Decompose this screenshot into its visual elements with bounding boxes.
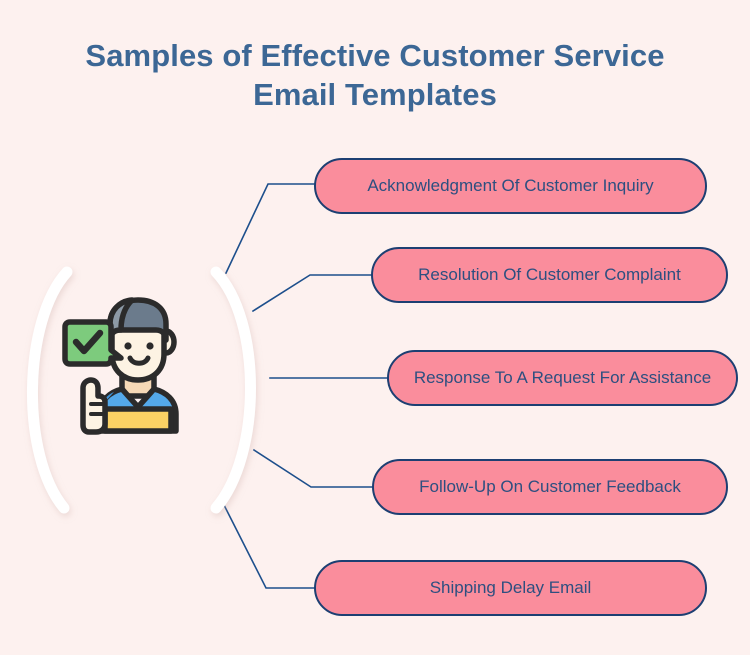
infographic-canvas: Samples of Effective Customer Service Em… (0, 0, 750, 655)
item-label: Response To A Request For Assistance (414, 368, 711, 388)
item-label: Acknowledgment Of Customer Inquiry (367, 176, 653, 196)
arc-right (216, 272, 251, 508)
character-package-band (105, 409, 171, 431)
customer-service-agent-illustration (58, 296, 218, 471)
item-label: Resolution Of Customer Complaint (418, 265, 681, 285)
item-pill-shipping[interactable]: Shipping Delay Email (314, 560, 707, 616)
character-eye-right (146, 342, 153, 349)
character-face (112, 326, 164, 380)
item-label: Follow-Up On Customer Feedback (419, 477, 681, 497)
item-pill-follow-up[interactable]: Follow-Up On Customer Feedback (372, 459, 728, 515)
item-pill-acknowledgment[interactable]: Acknowledgment Of Customer Inquiry (314, 158, 707, 214)
character-eye-left (124, 342, 131, 349)
item-pill-resolution[interactable]: Resolution Of Customer Complaint (371, 247, 728, 303)
item-pill-response[interactable]: Response To A Request For Assistance (387, 350, 738, 406)
item-label: Shipping Delay Email (430, 578, 592, 598)
